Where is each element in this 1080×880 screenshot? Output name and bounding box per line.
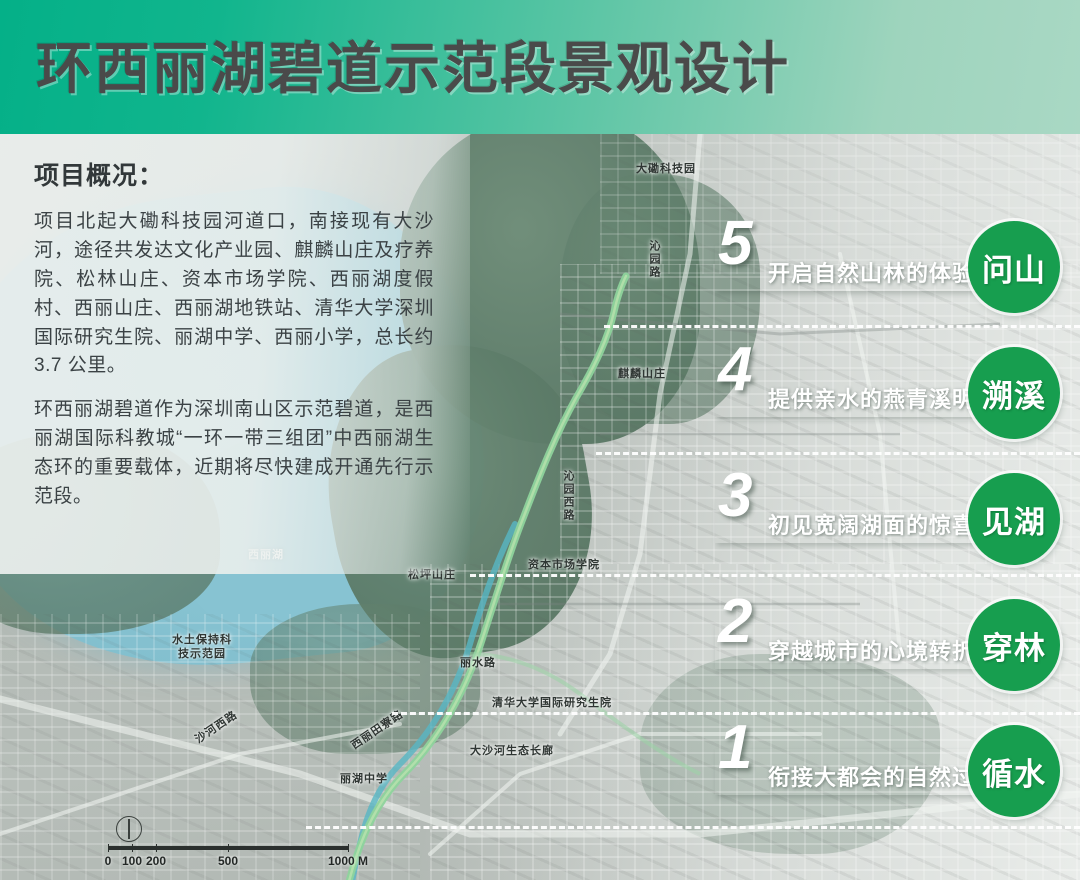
callout-badge[interactable]: 问山: [968, 221, 1060, 313]
callout-leader-line: [604, 325, 1080, 328]
callout-number: 3: [718, 465, 750, 527]
callout-text: 提供亲水的燕青溪明渠: [768, 382, 998, 414]
scale-bar-ticks: [108, 844, 348, 850]
callout-item-5[interactable]: 5开启自然山林的体验问山: [690, 219, 1050, 315]
map-label: 水土保持科技示范园: [172, 634, 232, 662]
map-label: 大磡科技园: [636, 160, 696, 176]
map-label: 资本市场学院: [528, 556, 600, 572]
callout-badge[interactable]: 见湖: [968, 473, 1060, 565]
scale-tick: [348, 844, 349, 852]
page-title: 环西丽湖碧道示范段景观设计: [36, 24, 790, 105]
callout-badge-label: 问山: [982, 245, 1046, 290]
callout-leader-line: [470, 574, 1080, 577]
poster-root: 环西丽湖碧道示范段景观设计: [0, 0, 1080, 880]
scale-tick-label: 100: [122, 854, 142, 868]
callout-number: 5: [718, 213, 750, 275]
callout-item-3[interactable]: 3初见宽阔湖面的惊喜见湖: [690, 471, 1050, 567]
map-scale-bar: 01002005001000 M: [108, 816, 348, 872]
north-arrow-icon: [116, 816, 142, 842]
project-overview-panel: 项目概况： 项目北起大磡科技园河道口，南接现有大沙河，途径共发达文化产业园、麒麟…: [0, 134, 470, 574]
callout-badge[interactable]: 穿林: [968, 599, 1060, 691]
overview-paragraph-2: 环西丽湖碧道作为深圳南山区示范碧道，是西丽湖国际科教城“一环一带三组团”中西丽湖…: [34, 396, 434, 512]
callout-leader-line: [306, 826, 1080, 829]
map-label: 大沙河生态长廊: [470, 742, 554, 758]
header-banner: 环西丽湖碧道示范段景观设计: [0, 0, 1080, 134]
scale-tick-label: 1000 M: [328, 854, 368, 868]
callout-number: 2: [718, 591, 750, 653]
callout-badge[interactable]: 溯溪: [968, 347, 1060, 439]
map-label: 清华大学国际研究生院: [492, 694, 612, 710]
scale-tick: [132, 844, 133, 852]
scale-tick: [156, 844, 157, 852]
map-label: 丽水路: [460, 654, 496, 670]
map-label: 丽湖中学: [340, 770, 388, 786]
callout-item-2[interactable]: 2穿越城市的心境转折穿林: [690, 597, 1050, 693]
panel-heading: 项目概况：: [34, 156, 164, 192]
overview-paragraph-1: 项目北起大磡科技园河道口，南接现有大沙河，途径共发达文化产业园、麒麟山庄及疗养院…: [34, 208, 434, 381]
callout-badge-label: 穿林: [982, 623, 1046, 668]
map-label: 沁园西路: [560, 470, 576, 522]
callout-item-4[interactable]: 4提供亲水的燕青溪明渠溯溪: [690, 345, 1050, 441]
callout-number: 4: [718, 339, 750, 401]
callout-text: 初见宽阔湖面的惊喜: [768, 508, 975, 540]
callout-leader-line: [596, 452, 1080, 455]
scale-tick: [108, 844, 109, 852]
map-label: 沁园路: [646, 240, 662, 279]
callout-badge-label: 循水: [982, 749, 1046, 794]
callout-text: 开启自然山林的体验: [768, 256, 975, 288]
scale-tick-label: 500: [218, 854, 238, 868]
scale-tick-label: 200: [146, 854, 166, 868]
callout-number: 1: [718, 717, 750, 779]
callout-item-1[interactable]: 1衔接大都会的自然过渡循水: [690, 723, 1050, 819]
callout-badge-label: 溯溪: [982, 371, 1046, 416]
callout-badge-label: 见湖: [982, 497, 1046, 542]
callout-text: 衔接大都会的自然过渡: [768, 760, 998, 792]
callout-badge[interactable]: 循水: [968, 725, 1060, 817]
scale-tick-label: 0: [105, 854, 112, 868]
map-label: 麒麟山庄: [612, 368, 672, 382]
scale-tick: [228, 844, 229, 852]
callout-text: 穿越城市的心境转折: [768, 634, 975, 666]
